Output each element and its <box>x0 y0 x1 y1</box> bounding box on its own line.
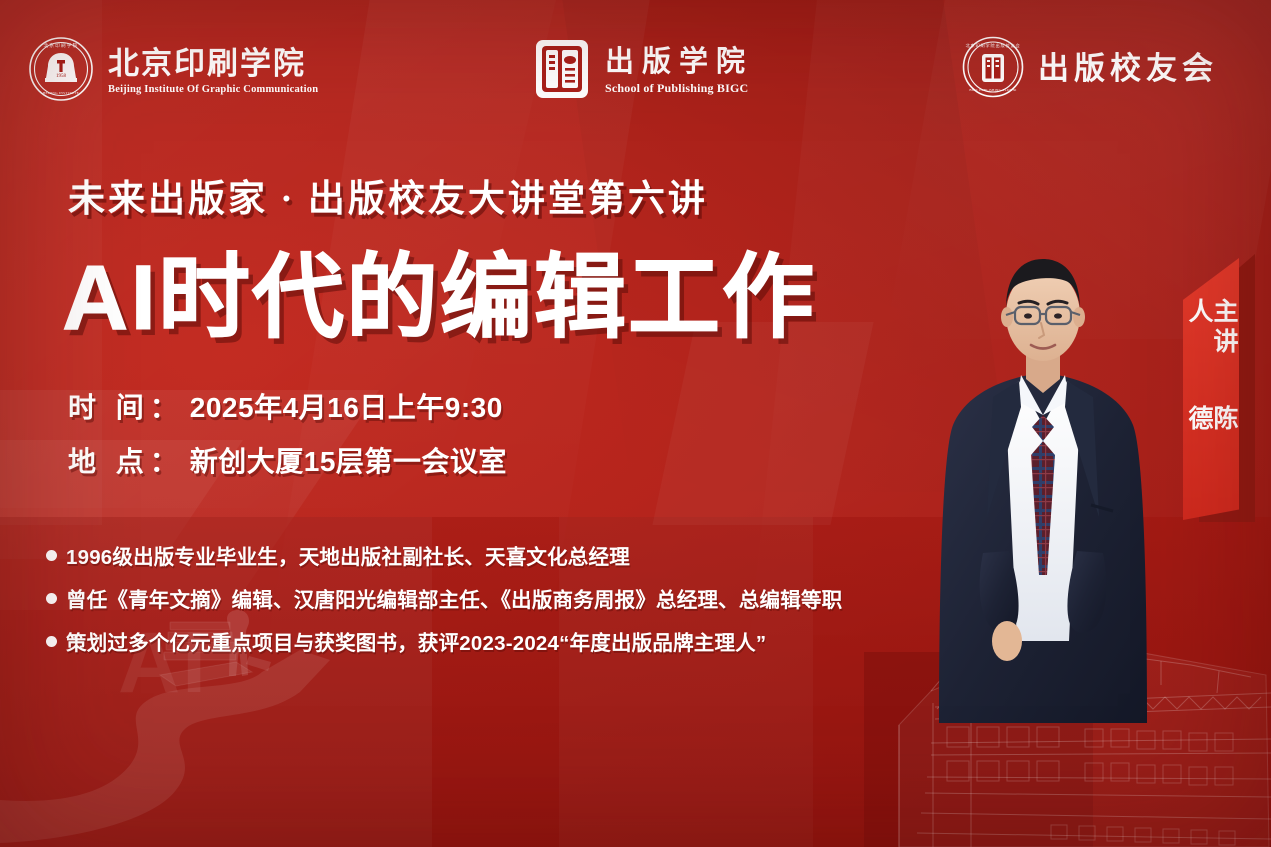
svg-text:北京印刷学院: 北京印刷学院 <box>44 42 79 49</box>
event-poster: AI <box>0 0 1271 847</box>
event-location-value: 新创大厦15层第一会议室 <box>190 440 507 480</box>
logo-bar: 1958 北京印刷学院 BEIJING INSTITUTE 北京印刷学院 Bei… <box>0 32 1271 110</box>
bigc-name-en: Beijing Institute Of Graphic Communicati… <box>108 84 318 95</box>
alumni-association-seal-icon: 北京印刷学院出版校友会 BIGC PUBLISHING ALUMNI <box>962 36 1024 103</box>
speaker-name-banner: 主讲人 陈 德 <box>1183 258 1249 526</box>
bullet-dot-icon <box>46 593 57 604</box>
logo-school-of-publishing: 出版学院 School of Publishing BIGC <box>533 38 753 105</box>
bigc-seal-icon: 1958 北京印刷学院 BEIJING INSTITUTE <box>28 36 94 107</box>
event-title: AI时代的编辑工作 <box>62 252 816 344</box>
list-item-text: 1996级出版专业毕业生，天地出版社副社长、天喜文化总经理 <box>66 540 630 570</box>
school-name-cn: 出版学院 <box>605 46 753 78</box>
school-of-publishing-wordmark: 出版学院 School of Publishing BIGC <box>605 47 753 95</box>
bigc-name-cn: 北京印刷学院 <box>108 46 306 81</box>
svg-text:1958: 1958 <box>56 74 67 79</box>
event-time-label: 时 间： <box>68 386 184 426</box>
list-item: 曾任《青年文摘》编辑、汉唐阳光编辑部主任、《出版商务周报》总经理、总编辑等职 <box>46 583 1026 613</box>
svg-text:BEIJING INSTITUTE: BEIJING INSTITUTE <box>43 91 79 95</box>
list-item-text: 曾任《青年文摘》编辑、汉唐阳光编辑部主任、《出版商务周报》总经理、总编辑等职 <box>66 583 842 613</box>
speaker-role-label: 主讲人 <box>1186 298 1236 383</box>
event-time-row: 时 间： 2025年4月16日上午9:30 <box>68 386 507 426</box>
logo-publishing-alumni-association: 北京印刷学院出版校友会 BIGC PUBLISHING ALUMNI 出版校友会 <box>962 36 1218 103</box>
banner-content: 主讲人 陈 德 <box>1183 258 1239 520</box>
event-location-row: 地 点： 新创大厦15层第一会议室 <box>68 440 507 480</box>
list-item: 1996级出版专业毕业生，天地出版社副社长、天喜文化总经理 <box>46 540 1026 570</box>
speaker-portrait <box>923 253 1163 723</box>
speaker-bio-list: 1996级出版专业毕业生，天地出版社副社长、天喜文化总经理 曾任《青年文摘》编辑… <box>46 540 1026 669</box>
bullet-dot-icon <box>46 636 57 647</box>
event-meta: 时 间： 2025年4月16日上午9:30 地 点： 新创大厦15层第一会议室 <box>68 386 507 494</box>
svg-text:北京印刷学院出版校友会: 北京印刷学院出版校友会 <box>966 42 1021 49</box>
logo-beijing-institute-of-graphic-communication: 1958 北京印刷学院 BEIJING INSTITUTE 北京印刷学院 Bei… <box>28 36 318 107</box>
alumni-name-cn: 出版校友会 <box>1038 51 1218 86</box>
bullet-dot-icon <box>46 550 57 561</box>
alumni-association-wordmark: 出版校友会 <box>1038 53 1218 86</box>
bigc-logo-wordmark: 北京印刷学院 Beijing Institute Of Graphic Comm… <box>108 48 318 95</box>
event-subtitle: 未来出版家 · 出版校友大讲堂第六讲 <box>68 168 708 222</box>
svg-text:BIGC PUBLISHING ALUMNI: BIGC PUBLISHING ALUMNI <box>969 88 1016 92</box>
school-name-en: School of Publishing BIGC <box>605 81 753 96</box>
speaker-name: 陈 德 <box>1186 405 1236 520</box>
list-item: 策划过多个亿元重点项目与获奖图书，获评2023-2024“年度出版品牌主理人” <box>46 626 1026 656</box>
list-item-text: 策划过多个亿元重点项目与获奖图书，获评2023-2024“年度出版品牌主理人” <box>66 626 766 656</box>
school-of-publishing-seal-icon <box>533 38 591 105</box>
event-time-value: 2025年4月16日上午9:30 <box>190 386 503 426</box>
event-location-label: 地 点： <box>68 440 184 480</box>
